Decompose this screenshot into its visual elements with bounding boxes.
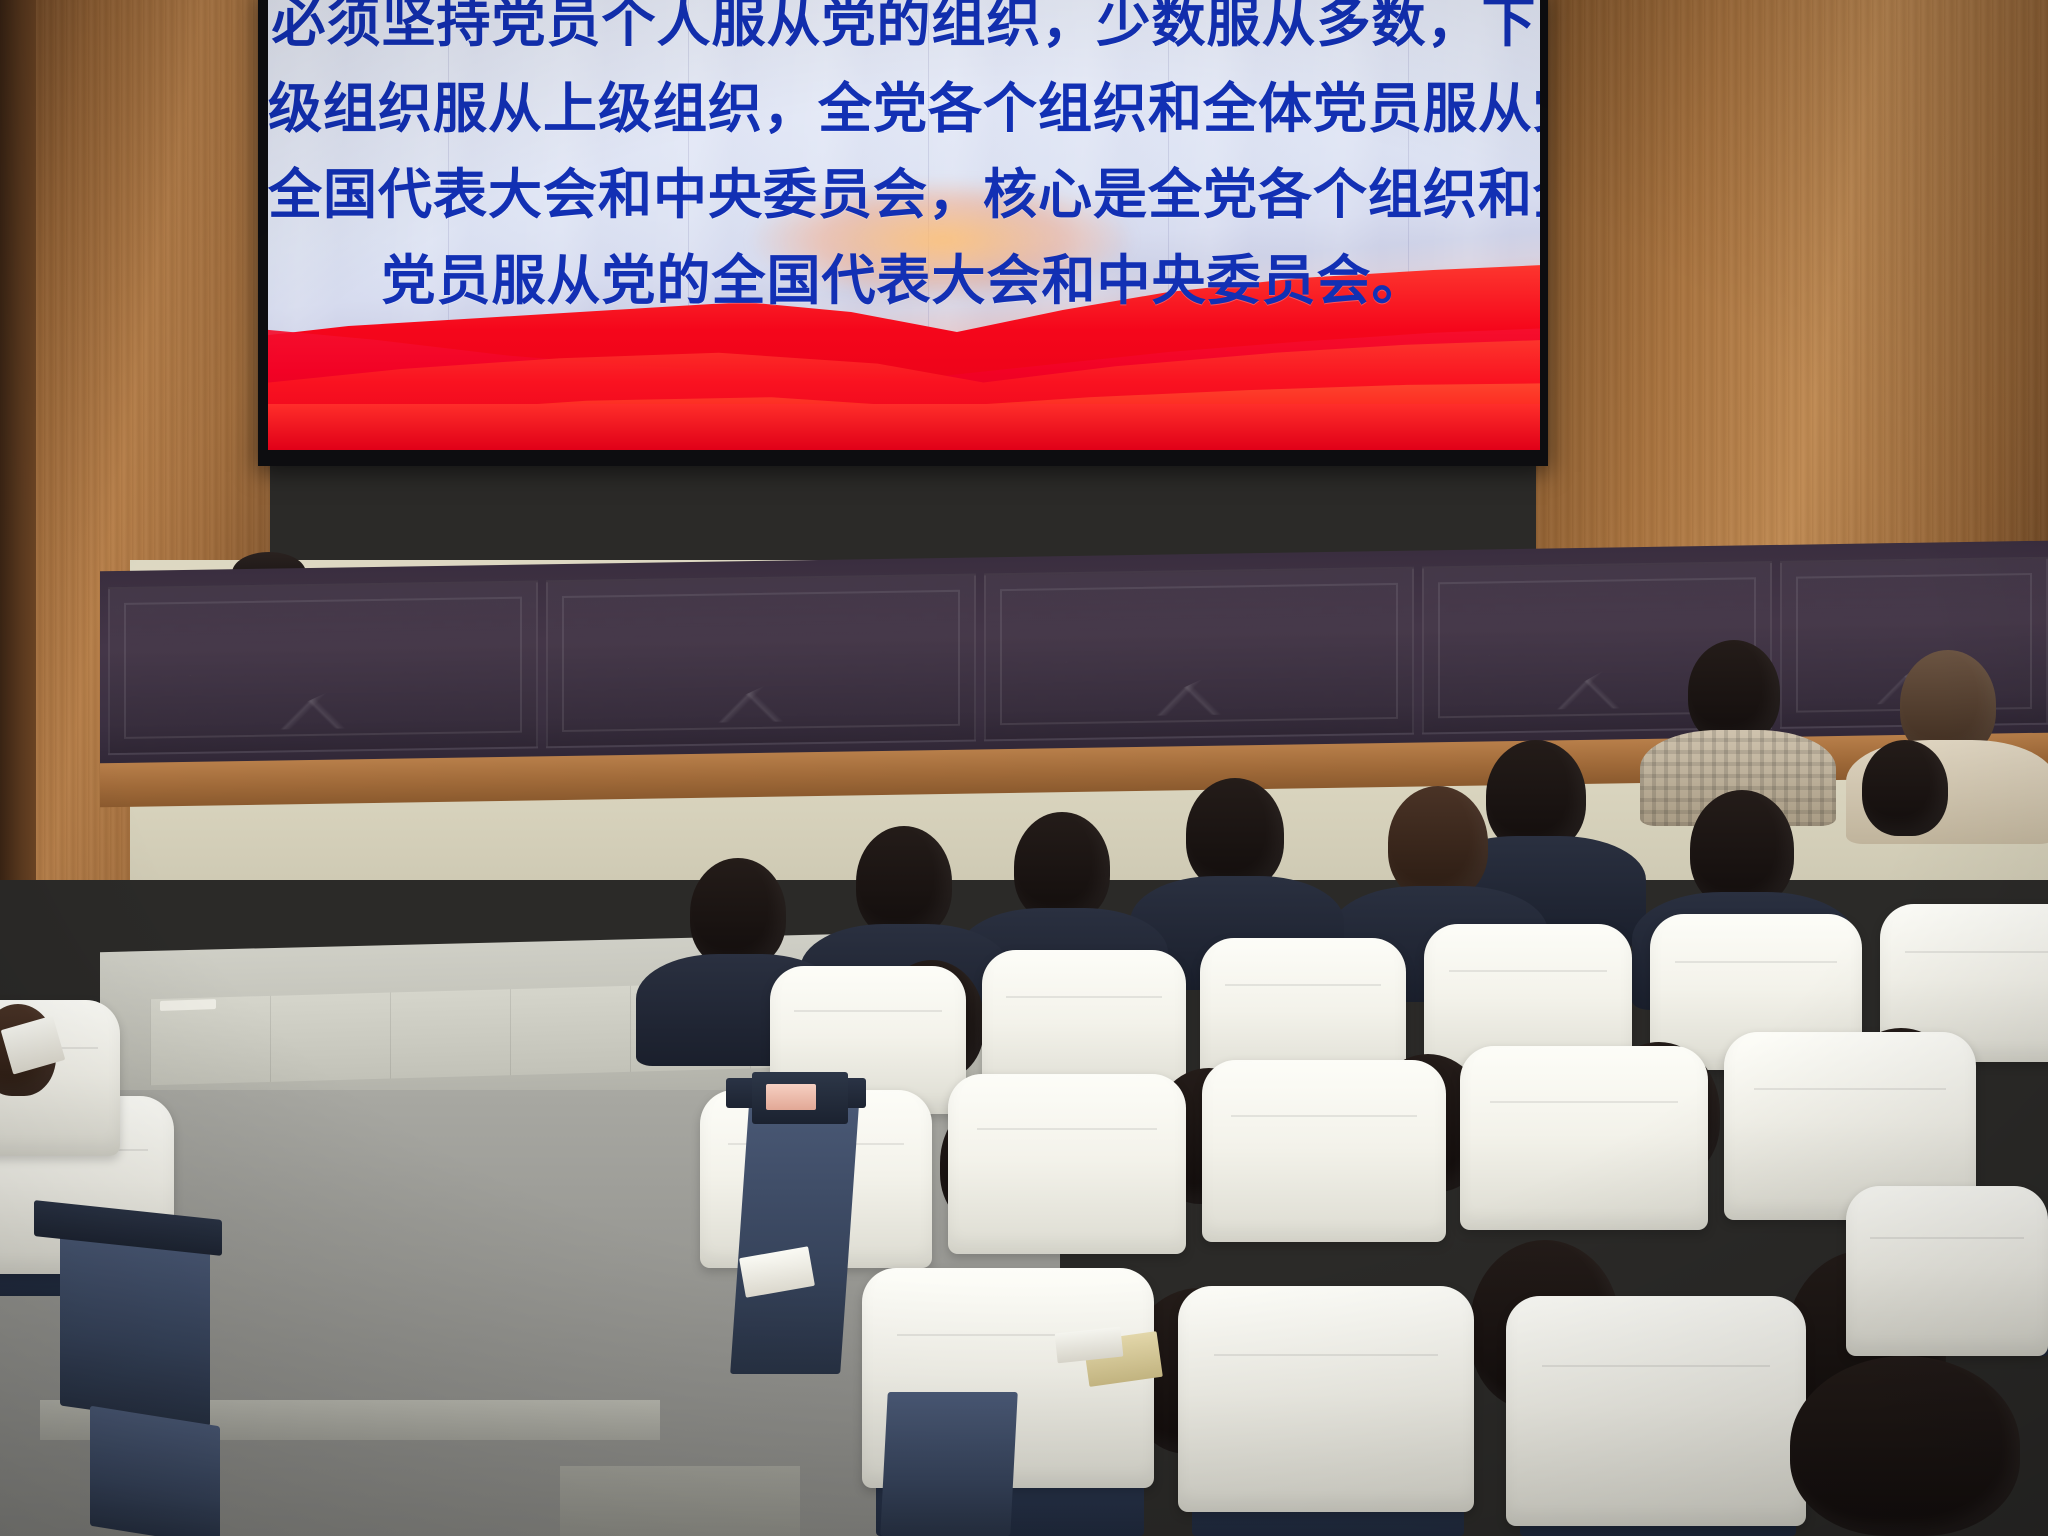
mountain-layer-5 [268,404,1540,450]
auditorium-seat [1846,1186,2048,1356]
wood-wall-left-edge [0,0,36,880]
floor-cable-tape [160,999,216,1011]
aisle-step [560,1466,800,1536]
seat-crease [1905,951,2048,953]
slide-text-block: 必须坚持党员个人服从党的组织，少数服从多数，下 级组织服从上级组织，全党各个组织… [268,0,1540,324]
seat-crease [1225,984,1382,986]
audience-head [1688,640,1780,744]
seat-crease [1542,1365,1770,1367]
seat-crease [1754,1088,1946,1090]
stage-panel [108,580,538,755]
auditorium-seat [1460,1046,1708,1230]
led-screen: 必须坚持党员个人服从党的组织，少数服从多数，下 级组织服从上级组织，全党各个组织… [268,0,1540,450]
seat-crease [1214,1354,1439,1356]
stage-panel [984,567,1414,742]
seat-crease [1870,1237,2024,1239]
audience-head [1186,778,1284,890]
audience-head [1014,812,1110,922]
slide-line-4: 党员服从党的全国代表大会和中央委员会。 [268,238,1540,324]
lecture-desk [880,1392,1018,1536]
auditorium-seat [948,1074,1186,1254]
slide-line-1: 必须坚持党员个人服从党的组织，少数服从多数，下 [268,0,1540,66]
seat-crease [1449,970,1607,972]
lecture-desk [90,1406,220,1536]
audience-head [1790,1356,2020,1536]
slide-line-3: 全国代表大会和中央委员会，核心是全党各个组织和全体 [268,152,1540,238]
seat-crease [794,1010,943,1012]
audience-head [690,858,786,968]
desk-item [766,1084,816,1110]
lecture-hall-photo: 必须坚持党员个人服从党的组织，少数服从多数，下 级组织服从上级组织，全党各个组织… [0,0,2048,1536]
lecture-desk [730,1092,860,1374]
slide-line-2: 级组织服从上级组织，全党各个组织和全体党员服从党的 [268,66,1540,152]
seat-crease [1006,996,1161,998]
auditorium-seat [1506,1296,1806,1526]
auditorium-seat [1178,1286,1474,1512]
seat-crease [977,1128,1158,1130]
seat-crease [1231,1115,1416,1117]
seat-crease [1675,961,1836,963]
seat-crease [1490,1101,1679,1103]
audience-head [1862,740,1948,836]
auditorium-seat [1202,1060,1446,1242]
audience-head [1690,790,1794,908]
audience-head [1388,786,1488,900]
stage-panel [546,574,976,749]
audience-head [856,826,952,938]
